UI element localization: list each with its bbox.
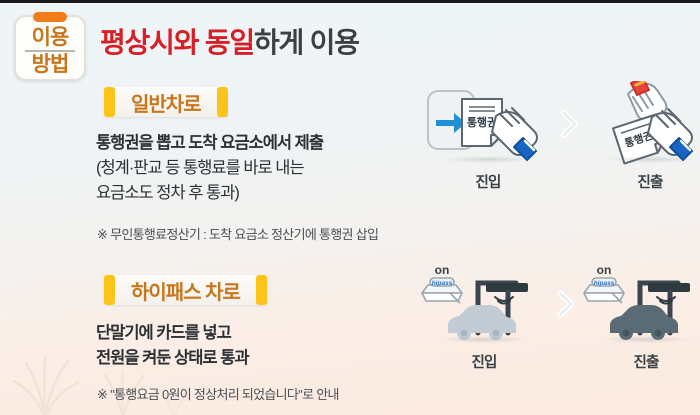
illustration-step-entry: on hipass bbox=[420, 261, 548, 372]
normal-lane-note: ※ 무인통행료정산기 : 도착 요금소 정산기에 통행권 삽입 bbox=[97, 224, 378, 243]
section-pill-label: 하이패스 차로 bbox=[115, 276, 256, 305]
step-label: 진입 bbox=[471, 351, 496, 372]
pill-accent-bar-left bbox=[104, 275, 115, 305]
ground-shadow bbox=[607, 156, 693, 163]
chevron-right-icon bbox=[552, 81, 586, 167]
badge-line-1: 이용 bbox=[16, 27, 84, 48]
ticket-dispenser-hand-icon: 통행권 bbox=[424, 81, 552, 167]
copy-line: (청계·판교 등 통행료를 바로 내는 bbox=[96, 156, 323, 181]
normal-lane-illustration: 통행권 진입 bbox=[424, 81, 700, 192]
section-pill-normal-lane: 일반차로 bbox=[104, 87, 228, 117]
illustration-step-exit: on hipass bbox=[582, 261, 700, 372]
badge-line-2: 방법 bbox=[16, 54, 84, 75]
step-label: 진출 bbox=[637, 171, 662, 192]
illustration-step-entry: 통행권 진입 bbox=[424, 81, 552, 192]
terminal-on-label: on bbox=[435, 263, 450, 277]
chevron-right-icon bbox=[548, 261, 582, 347]
svg-text:hipass: hipass bbox=[594, 280, 615, 287]
section-pill-hipass-lane: 하이패스 차로 bbox=[104, 275, 267, 305]
pill-accent-bar-right bbox=[217, 87, 228, 117]
page-title: 평상시와 동일하게 이용 bbox=[100, 21, 359, 61]
pill-accent-bar-right bbox=[256, 275, 267, 305]
hipass-lane-copy: 단말기에 카드를 넣고 전원을 켜둔 상태로 통과 bbox=[96, 321, 249, 371]
copy-line: 통행권을 뽑고 도착 요금소에서 제출 bbox=[96, 131, 323, 156]
step-label: 진입 bbox=[475, 171, 500, 192]
hipass-gantry-car-icon: on hipass bbox=[582, 261, 700, 347]
ground-shadow bbox=[441, 336, 527, 343]
badge-clip-icon bbox=[33, 12, 67, 22]
terminal-on-label: on bbox=[597, 263, 612, 277]
hipass-lane-illustration: on hipass bbox=[420, 261, 700, 372]
pill-accent-bar-left bbox=[104, 87, 115, 117]
grass-decoration-icon bbox=[6, 347, 84, 415]
hipass-lane-note: ※ "통행요금 0원이 정상처리 되었습니다"로 안내 bbox=[97, 384, 339, 403]
illustration-step-exit: 통행권 진출 bbox=[586, 81, 700, 192]
copy-line: 요금소도 정차 후 통과) bbox=[96, 181, 323, 206]
page-title-rest: 하게 이용 bbox=[254, 27, 359, 58]
normal-lane-copy: 통행권을 뽑고 도착 요금소에서 제출 (청계·판교 등 통행료를 바로 내는 … bbox=[96, 131, 323, 206]
copy-line: 전원을 켜둔 상태로 통과 bbox=[96, 346, 249, 371]
ground-shadow bbox=[603, 336, 689, 343]
ground-shadow bbox=[445, 156, 531, 163]
copy-line: 단말기에 카드를 넣고 bbox=[96, 321, 249, 346]
usage-method-badge: 이용 방법 bbox=[14, 15, 86, 81]
section-pill-label: 일반차로 bbox=[115, 88, 217, 117]
page-title-highlight: 평상시와 동일 bbox=[100, 27, 254, 58]
svg-text:hipass: hipass bbox=[432, 280, 453, 287]
badge-divider bbox=[25, 50, 75, 52]
step-label: 진출 bbox=[633, 351, 658, 372]
hipass-gantry-car-icon: on hipass bbox=[420, 261, 548, 347]
ticket-handover-hands-icon: 통행권 bbox=[586, 81, 700, 167]
infographic-poster: 이용 방법 평상시와 동일하게 이용 일반차로 통행권을 뽑고 도착 요금소에서… bbox=[0, 0, 700, 415]
